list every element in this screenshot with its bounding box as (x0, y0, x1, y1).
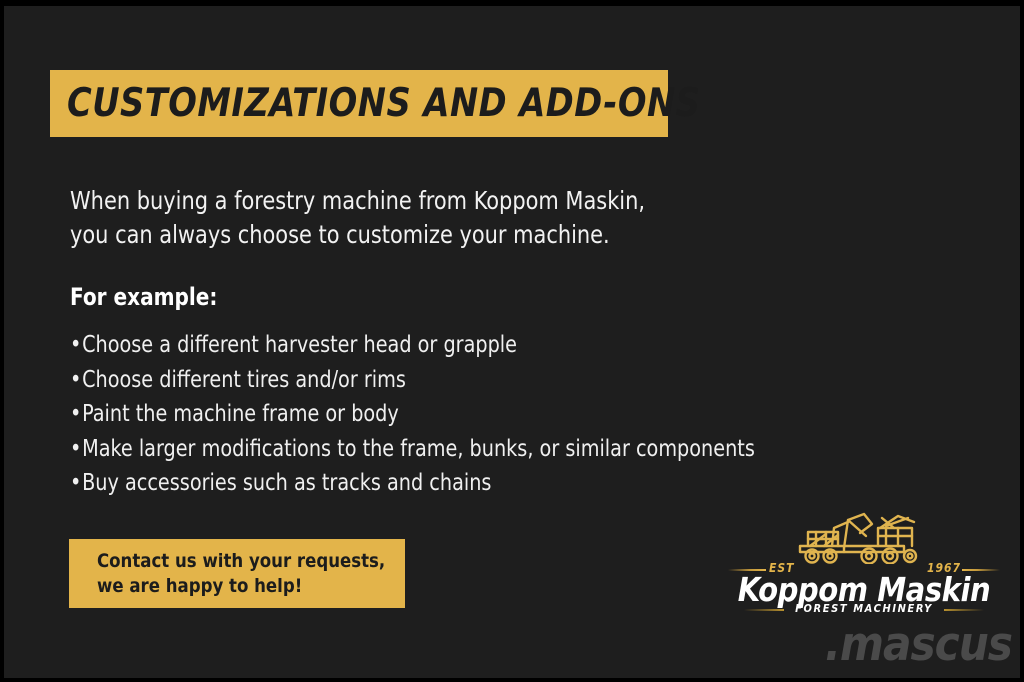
advertisement-slide: CUSTOMIZATIONS AND ADD-ONS When buying a… (0, 0, 1024, 682)
list-item: •Paint the machine frame or body (70, 397, 777, 432)
slide-panel: CUSTOMIZATIONS AND ADD-ONS When buying a… (4, 6, 1020, 678)
list-item-label: Choose different tires and/or rims (82, 367, 406, 393)
list-item-label: Buy accessories such as tracks and chain… (82, 470, 491, 496)
bullet-icon: • (70, 363, 82, 398)
list-item-label: Choose a different harvester head or gra… (82, 332, 517, 358)
list-item: •Choose a different harvester head or gr… (70, 328, 777, 363)
intro-line-2: you can always choose to customize your … (70, 218, 721, 252)
header-banner: CUSTOMIZATIONS AND ADD-ONS (50, 70, 668, 137)
forestry-forwarder-icon (786, 506, 941, 564)
mascus-watermark: .mascus (752, 620, 1012, 670)
customization-options-list: •Choose a different harvester head or gr… (70, 328, 777, 501)
bullet-icon: • (70, 397, 82, 432)
list-item: •Buy accessories such as tracks and chai… (70, 466, 777, 501)
contact-line-1: Contact us with your requests, (97, 549, 396, 574)
list-item-label: Make larger modifications to the frame, … (82, 436, 755, 462)
bullet-icon: • (70, 466, 82, 501)
list-item-label: Paint the machine frame or body (82, 401, 399, 427)
company-logo: EST 1967 Koppom Maskin FOREST MACHINERY (724, 506, 1004, 618)
intro-paragraph: When buying a forestry machine from Kopp… (70, 184, 721, 252)
for-example-label: For example: (70, 283, 217, 311)
contact-line-2: we are happy to help! (97, 574, 396, 599)
list-item: •Choose different tires and/or rims (70, 363, 777, 398)
list-item: •Make larger modifications to the frame,… (70, 432, 777, 467)
logo-tagline-row: FOREST MACHINERY (724, 602, 1004, 618)
intro-line-1: When buying a forestry machine from Kopp… (70, 184, 721, 218)
contact-cta-box[interactable]: Contact us with your requests, we are ha… (69, 539, 405, 608)
page-title: CUSTOMIZATIONS AND ADD-ONS (67, 81, 700, 126)
logo-tagline-rule-right (944, 609, 984, 611)
bullet-icon: • (70, 432, 82, 467)
bullet-icon: • (70, 328, 82, 363)
